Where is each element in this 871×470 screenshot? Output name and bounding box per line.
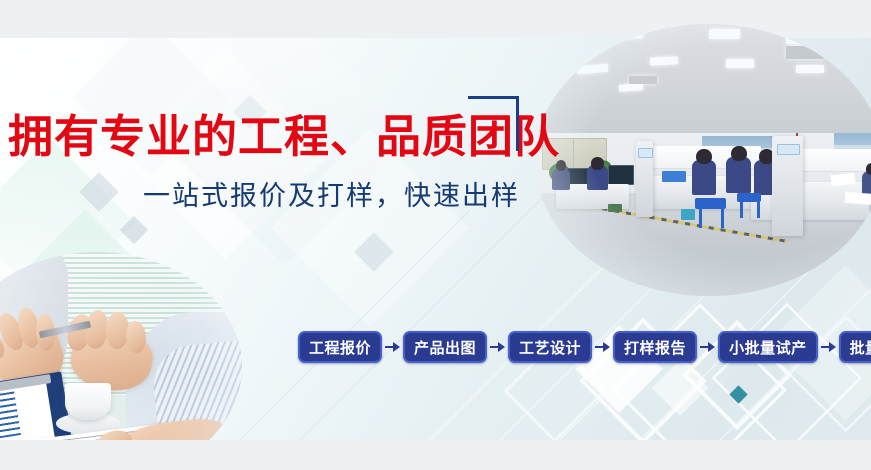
process-flow: 工程报价产品出图工艺设计打样报告小批量试产批量量产 bbox=[298, 331, 871, 363]
factory-workspace-photo bbox=[535, 24, 871, 296]
flow-step-badge[interactable]: 批量量产 bbox=[839, 331, 871, 363]
business-meeting-photo bbox=[0, 252, 242, 470]
flow-step-badge[interactable]: 工艺设计 bbox=[508, 331, 592, 363]
arrow-right-icon bbox=[699, 340, 716, 354]
arrow-right-icon bbox=[820, 340, 837, 354]
arrow-right-icon bbox=[489, 340, 506, 354]
corner-bracket-decoration bbox=[468, 96, 519, 151]
flow-step-badge[interactable]: 产品出图 bbox=[403, 331, 487, 363]
page-subtitle: 一站式报价及打样，快速出样 bbox=[143, 183, 520, 210]
bottom-band bbox=[0, 440, 871, 470]
arrow-right-icon bbox=[384, 340, 401, 354]
photo-edge-fade bbox=[535, 24, 871, 296]
flow-step-badge[interactable]: 打样报告 bbox=[613, 331, 697, 363]
arrow-right-icon bbox=[594, 340, 611, 354]
promotional-banner: 拥有专业的工程、品质团队 一站式报价及打样，快速出样 工程报价产品出图工艺设计打… bbox=[0, 0, 871, 470]
photo-edge-fade bbox=[0, 252, 242, 470]
flow-step-badge[interactable]: 工程报价 bbox=[298, 331, 382, 363]
flow-step-badge[interactable]: 小批量试产 bbox=[718, 331, 818, 363]
